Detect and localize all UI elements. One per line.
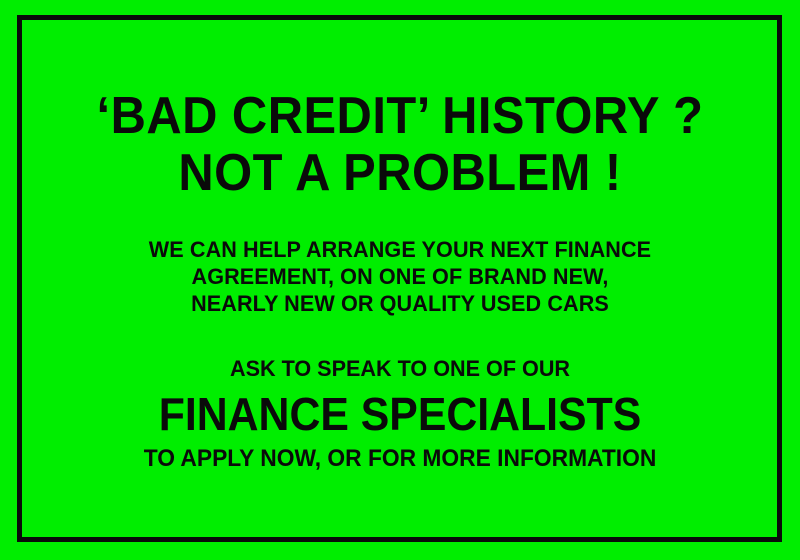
body-copy-line-3: NEARLY NEW OR QUALITY USED CARS <box>54 290 745 317</box>
cta-lead-in-text: ASK TO SPEAK TO ONE OF OUR <box>54 355 745 382</box>
headline-line-1: ‘BAD CREDIT’ HISTORY ? <box>62 88 739 145</box>
cta-footer-text: TO APPLY NOW, OR FOR MORE INFORMATION <box>58 444 742 473</box>
call-to-action-block: ASK TO SPEAK TO ONE OF OUR FINANCE SPECI… <box>40 355 760 473</box>
headline-block: ‘BAD CREDIT’ HISTORY ? NOT A PROBLEM ! <box>40 88 760 202</box>
poster-content: ‘BAD CREDIT’ HISTORY ? NOT A PROBLEM ! W… <box>0 0 800 560</box>
headline-line-2: NOT A PROBLEM ! <box>62 145 739 202</box>
cta-headline-finance-specialists: FINANCE SPECIALISTS <box>65 388 735 440</box>
body-copy-block: WE CAN HELP ARRANGE YOUR NEXT FINANCE AG… <box>40 236 760 317</box>
body-copy-line-2: AGREEMENT, ON ONE OF BRAND NEW, <box>54 263 745 290</box>
body-copy-line-1: WE CAN HELP ARRANGE YOUR NEXT FINANCE <box>54 236 745 263</box>
advertisement-poster: ‘BAD CREDIT’ HISTORY ? NOT A PROBLEM ! W… <box>0 0 800 560</box>
